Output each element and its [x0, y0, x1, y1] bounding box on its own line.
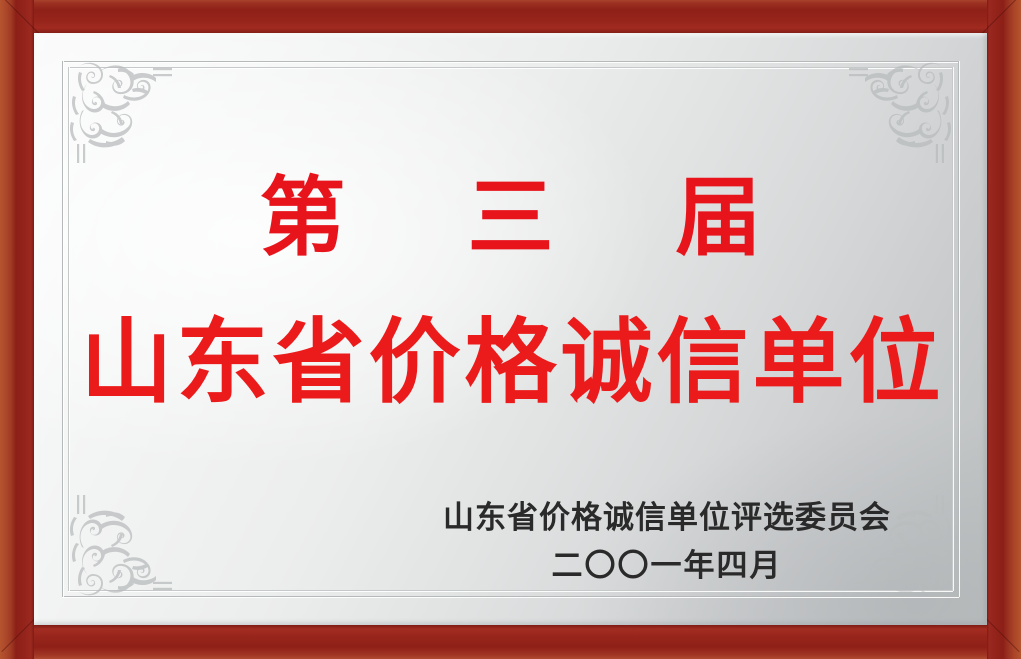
- award-plaque: 第 三 届 山东省价格诚信单位 山东省价格诚信单位评选委员会 二〇〇一年四月: [0, 0, 1021, 659]
- frame-edge-bottom: [0, 625, 1021, 659]
- issuing-body: 山东省价格诚信单位评选委员会: [443, 499, 891, 539]
- frame-edge-top: [0, 0, 1021, 34]
- frame-edge-right: [987, 0, 1021, 659]
- award-date: 二〇〇一年四月: [443, 547, 891, 587]
- signature-block: 山东省价格诚信单位评选委员会 二〇〇一年四月: [443, 499, 891, 586]
- award-edition-line: 第 三 届: [34, 175, 987, 261]
- metal-plate: 第 三 届 山东省价格诚信单位 山东省价格诚信单位评选委员会 二〇〇一年四月: [34, 33, 987, 625]
- award-title-line: 山东省价格诚信单位: [34, 316, 987, 408]
- plaque-text-layer: 第 三 届 山东省价格诚信单位 山东省价格诚信单位评选委员会 二〇〇一年四月: [34, 33, 987, 625]
- frame-edge-left: [0, 0, 34, 659]
